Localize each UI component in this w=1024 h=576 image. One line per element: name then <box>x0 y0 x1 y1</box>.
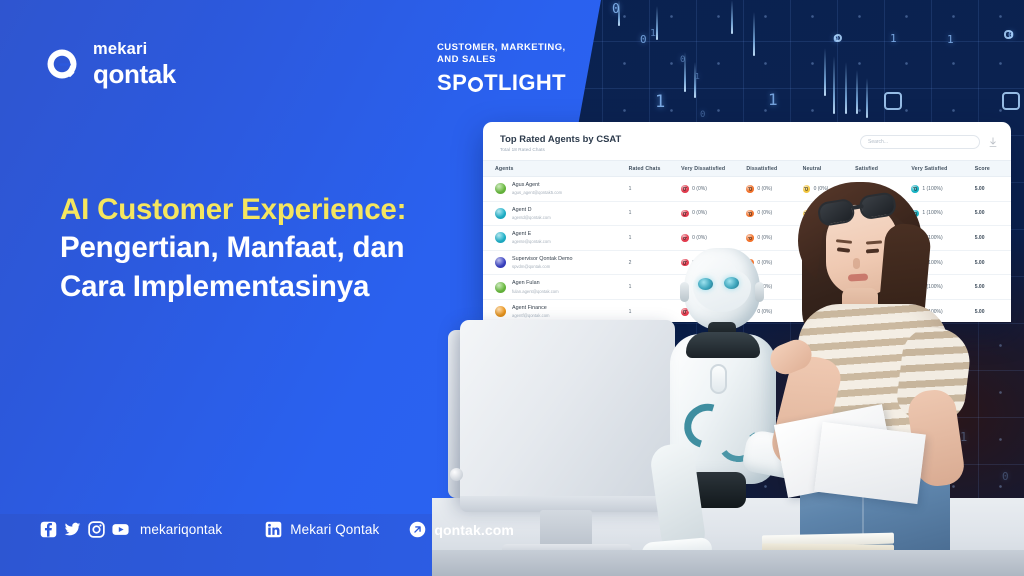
footer-social-bar: mekariqontak Mekari Qontak qontak.com <box>40 521 514 538</box>
paper-sheet-two <box>814 422 926 504</box>
facebook-icon[interactable] <box>40 521 57 538</box>
hero-photo <box>432 180 1024 576</box>
linkedin-icon[interactable] <box>265 521 282 538</box>
social-handle: mekariqontak <box>140 522 222 537</box>
spotlight-kicker-line2: AND SALES <box>437 54 566 66</box>
logo-wordmark: mekari qontak <box>93 41 176 87</box>
sunglass-lens-left <box>817 198 856 227</box>
spotlight-kicker-line1: CUSTOMER, MARKETING, <box>437 42 566 54</box>
woman-holding-papers <box>784 180 984 576</box>
download-icon[interactable] <box>989 137 997 148</box>
robot-eye-right <box>724 277 739 289</box>
logo-top-word: mekari <box>93 41 176 58</box>
linkedin-name: Mekari Qontak <box>290 522 379 537</box>
headline-line-1: AI Customer Experience: <box>60 191 490 229</box>
headline-line-3: Cara Implementasinya <box>60 268 490 306</box>
website-group[interactable]: qontak.com <box>409 521 514 538</box>
column-header-very-dissatisfied[interactable]: Very Dissatisfied <box>681 166 746 172</box>
spotlight-badge: CUSTOMER, MARKETING, AND SALES SP TLIGHT <box>437 42 566 96</box>
spotlight-word: SP TLIGHT <box>437 70 566 96</box>
youtube-icon[interactable] <box>112 521 129 538</box>
column-header-rated-chats[interactable]: Rated Chats <box>625 166 682 172</box>
page-title: AI Customer Experience: Pengertian, Manf… <box>60 191 490 306</box>
card-tools: Search... <box>860 135 997 149</box>
column-header-agents[interactable]: Agents <box>483 166 625 172</box>
brand-logo[interactable]: mekari qontak <box>42 41 176 87</box>
robot-eye-left <box>698 278 713 290</box>
card-heading-text: Top Rated Agents by CSAT Total 18 Rated … <box>500 133 621 152</box>
robot-chest-panel <box>710 364 727 394</box>
robot-ear-right <box>755 282 764 302</box>
woman-nose <box>853 258 860 269</box>
table-header-row: Agents Rated Chats Very Dissatisfied Dis… <box>483 160 1011 177</box>
column-header-satisfied[interactable]: Satisfied <box>855 166 911 172</box>
spotlight-word-part1: SP <box>437 70 467 96</box>
search-input[interactable]: Search... <box>860 135 980 149</box>
card-header: Top Rated Agents by CSAT Total 18 Rated … <box>483 122 1011 160</box>
card-subtitle: Total 18 Rated Chats <box>500 147 621 152</box>
column-header-neutral[interactable]: Neutral <box>803 166 856 172</box>
slide-canvas: 0 1 0 0 1 0 1 1 0 1 1 0 1 0 <box>0 0 1024 576</box>
mekari-ring-logo-icon <box>42 44 82 84</box>
column-header-dissatisfied[interactable]: Dissatisfied <box>746 166 802 172</box>
search-placeholder: Search... <box>868 139 888 145</box>
linkedin-group: Mekari Qontak <box>265 521 379 538</box>
monitor-screen <box>460 320 675 504</box>
desk-front-edge <box>432 550 1024 576</box>
social-icon-group: mekariqontak <box>40 521 222 538</box>
spotlight-word-part2: TLIGHT <box>484 70 566 96</box>
monitor-camera-dot <box>450 468 463 481</box>
qontak-arrow-icon[interactable] <box>409 521 426 538</box>
robot-collar <box>686 332 760 358</box>
website-url: qontak.com <box>434 522 514 538</box>
humanoid-robot <box>648 248 800 576</box>
headline-line-2: Pengertian, Manfaat, dan <box>60 229 490 267</box>
robot-ear-left <box>680 282 689 302</box>
woman-lips <box>848 273 868 281</box>
column-header-score[interactable]: Score <box>975 166 1011 172</box>
card-title: Top Rated Agents by CSAT <box>500 133 621 144</box>
instagram-icon[interactable] <box>88 521 105 538</box>
column-header-very-satisfied[interactable]: Very Satisfied <box>911 166 974 172</box>
spotlight-o-ring-icon <box>468 77 483 92</box>
twitter-icon[interactable] <box>64 521 81 538</box>
logo-bottom-word: qontak <box>93 61 176 87</box>
sunglass-lens-right <box>858 191 897 220</box>
